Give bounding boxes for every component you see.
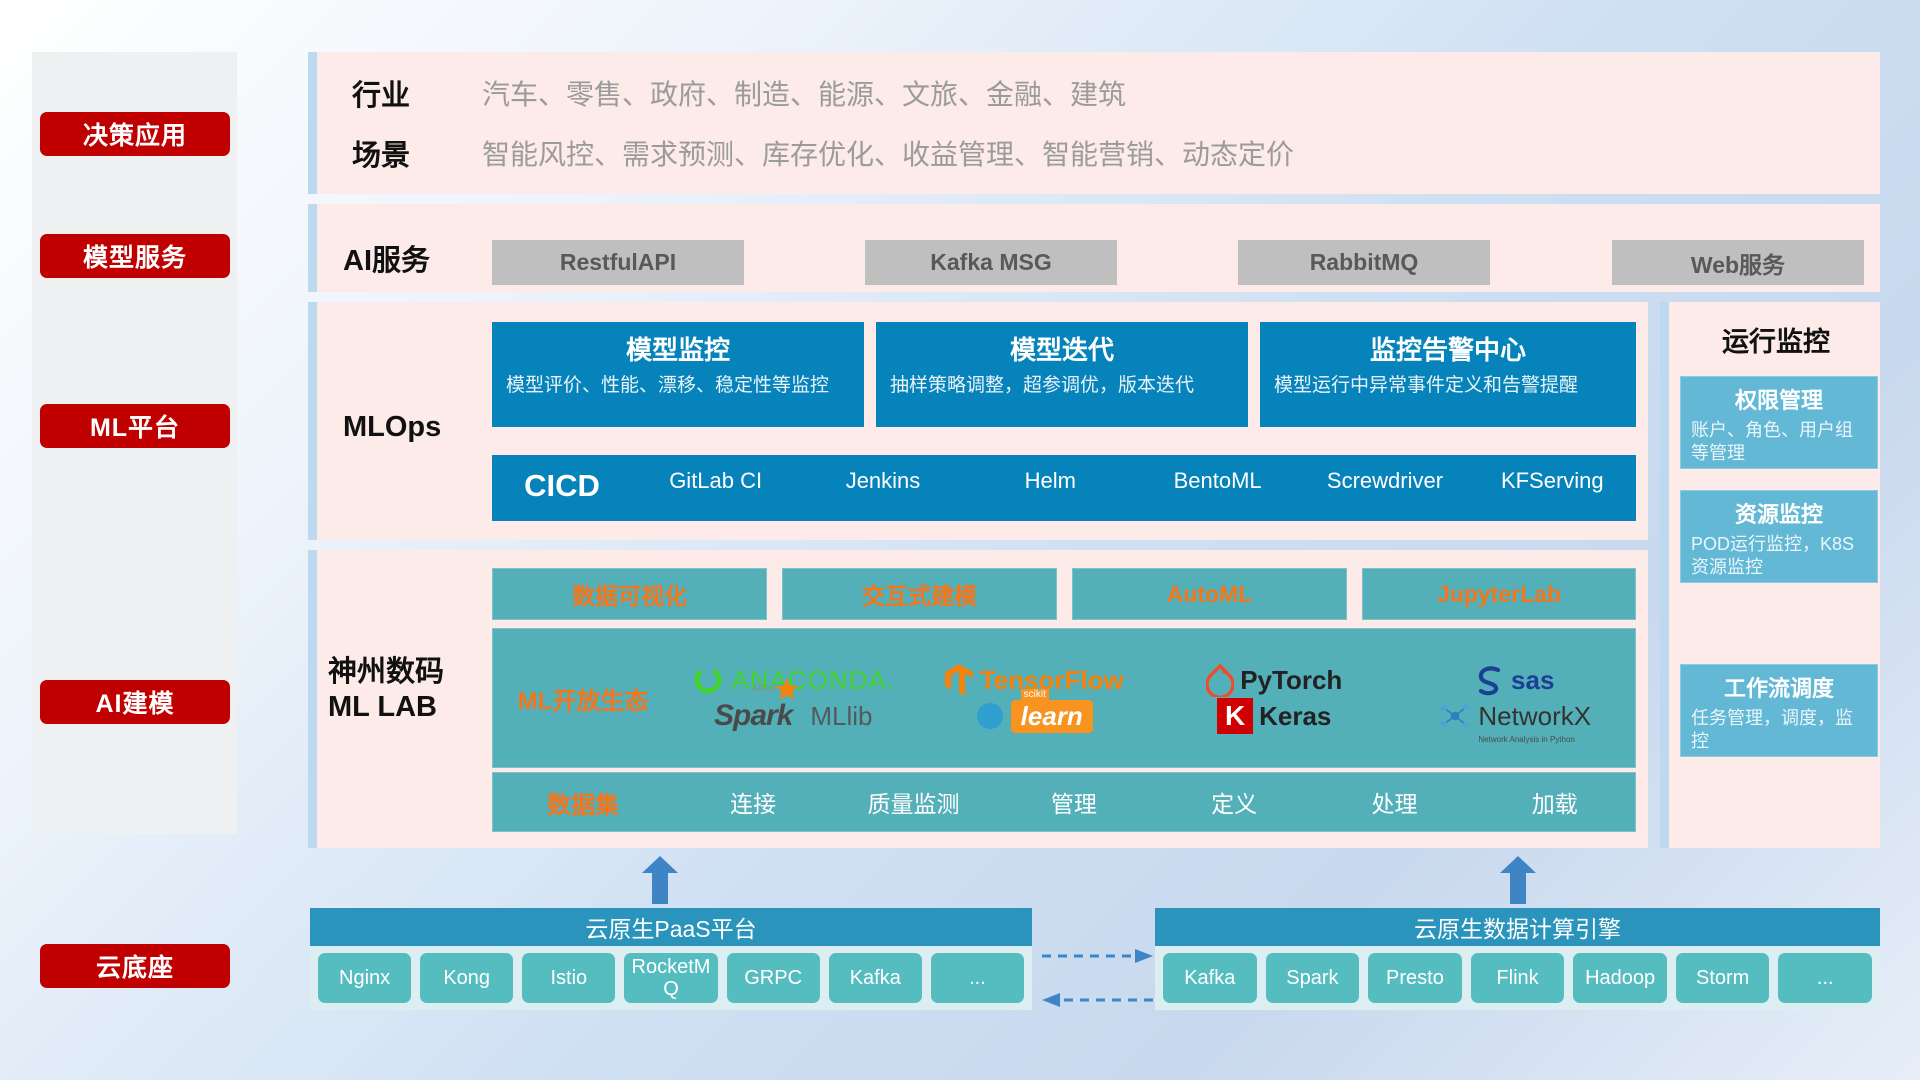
scikit-learn-icon [975,701,1005,731]
data-chip-kafka[interactable]: Kafka [1163,953,1257,1003]
lab-tab-automl[interactable]: AutoML [1072,568,1347,620]
dataset-item-define[interactable]: 定义 [1154,785,1314,819]
dataset-label: 数据集 [493,785,673,820]
mlops-card-title: 模型监控 [506,330,850,367]
dataset-item-process[interactable]: 处理 [1314,785,1474,819]
cicd-item-kfserving[interactable]: KFServing [1469,461,1636,495]
data-chip-spark[interactable]: Spark [1266,953,1360,1003]
scikit-learn-wordmark: scikit learn [1011,700,1093,733]
networkx-tagline: Network Analysis in Python [1478,735,1575,744]
stage-chip-cloud-base[interactable]: 云底座 [40,944,230,988]
scikit-sub-label: scikit [1021,689,1049,700]
ml-ecosystem-logo-grid: ANACONDA. TensorFlow PyTorch [673,662,1635,734]
logo-label: Keras [1259,701,1331,732]
monitor-card-resource[interactable]: 资源监控 POD运行监控，K8S资源监控 [1680,490,1878,583]
logo-label: TensorFlow [980,665,1124,696]
logo-keras: K Keras [1154,698,1395,734]
stage-chip-ai-modeling[interactable]: AI建模 [40,680,230,724]
stage-chip-model-service[interactable]: 模型服务 [40,234,230,278]
stage-chip-ml-platform[interactable]: ML平台 [40,404,230,448]
logo-label: NetworkX [1478,701,1591,731]
paas-platform-title: 云原生PaaS平台 [310,908,1032,946]
arrow-up-paas [640,856,680,898]
industry-value: 汽车、零售、政府、制造、能源、文旅、金融、建筑 [482,73,1126,113]
architecture-diagram: 决策应用 模型服务 ML平台 AI建模 云底座 行业 汽车、零售、政府、制造、能… [0,0,1920,1080]
monitor-card-title: 权限管理 [1691,383,1867,415]
runtime-monitor-title: 运行监控 [1672,320,1880,359]
paas-chip-grpc[interactable]: GRPC [727,953,820,1003]
paas-chip-rocketmq[interactable]: RocketMQ [624,953,717,1003]
service-chip-web-service[interactable]: Web服务 [1612,240,1864,285]
mlops-card-desc: 模型评价、性能、漂移、稳定性等监控 [506,373,850,399]
paas-chip-istio[interactable]: Istio [522,953,615,1003]
spark-star-icon [774,678,800,700]
ml-ecosystem-label: ML开放生态 [493,681,673,716]
cicd-item-gitlab-ci[interactable]: GitLab CI [632,461,799,495]
cicd-item-screwdriver[interactable]: Screwdriver [1301,461,1468,495]
scenario-row: 场景 智能风控、需求预测、库存优化、收益管理、智能营销、动态定价 [352,132,1294,174]
logo-sas: sas [1395,664,1636,696]
logo-label: PyTorch [1240,665,1342,696]
tensorflow-icon [944,663,974,697]
paas-chip-nginx[interactable]: Nginx [318,953,411,1003]
dataset-item-quality[interactable]: 质量监测 [833,785,993,819]
data-chip-flink[interactable]: Flink [1471,953,1565,1003]
monitor-card-desc: 任务管理，调度，监控 [1691,707,1867,754]
monitor-card-permission[interactable]: 权限管理 账户、角色、用户组等管理 [1680,376,1878,469]
anaconda-icon [691,663,725,697]
cicd-item-helm[interactable]: Helm [967,461,1134,495]
lab-tab-jupyterlab[interactable]: JupyterLab [1362,568,1636,620]
stage-chip-decision-app[interactable]: 决策应用 [40,112,230,156]
mlops-card-title: 监控告警中心 [1274,330,1622,367]
lab-tab-interactive-modeling[interactable]: 交互式建模 [782,568,1057,620]
data-chip-storm[interactable]: Storm [1676,953,1770,1003]
mlops-card-desc: 模型运行中异常事件定义和告警提醒 [1274,373,1622,399]
monitor-card-desc: 账户、角色、用户组等管理 [1691,419,1867,466]
data-chip-presto[interactable]: Presto [1368,953,1462,1003]
networkx-icon [1438,700,1472,732]
industry-row: 行业 汽车、零售、政府、制造、能源、文旅、金融、建筑 [352,72,1126,114]
mlops-card-model-monitoring[interactable]: 模型监控 模型评价、性能、漂移、稳定性等监控 [492,322,864,427]
cicd-item-jenkins[interactable]: Jenkins [799,461,966,495]
dataset-item-load[interactable]: 加载 [1475,785,1635,819]
logo-pytorch: PyTorch [1154,663,1395,697]
scenario-value: 智能风控、需求预测、库存优化、收益管理、智能营销、动态定价 [482,133,1294,173]
monitor-card-desc: POD运行监控，K8S资源监控 [1691,533,1867,580]
arrow-up-data-engine [1498,856,1538,898]
ml-lab-label: 神州数码 ML LAB [328,655,444,725]
lab-tab-data-visualization[interactable]: 数据可视化 [492,568,767,620]
mlops-label: MLOps [343,410,441,445]
logo-label: MLlib [810,701,872,732]
monitor-card-title: 工作流调度 [1691,671,1867,703]
dataset-item-connect[interactable]: 连接 [673,785,833,819]
mlops-card-model-iteration[interactable]: 模型迭代 抽样策略调整，超参调优，版本迭代 [876,322,1248,427]
logo-label: sas [1511,665,1554,696]
scenario-label: 场景 [352,132,482,174]
bidirectional-link-arrows [1040,940,1155,1020]
cicd-bar: CICD GitLab CI Jenkins Helm BentoML Scre… [492,455,1636,521]
service-chip-restfulapi[interactable]: RestfulAPI [492,240,744,285]
paas-chip-more[interactable]: ... [931,953,1024,1003]
ml-ecosystem-box: ML开放生态 ANACONDA. TensorFlow [492,628,1636,768]
data-engine-title: 云原生数据计算引擎 [1155,908,1880,946]
cicd-item-bentoml[interactable]: BentoML [1134,461,1301,495]
pytorch-icon [1206,663,1234,697]
spark-icon: APACHE Spark [714,699,792,733]
mlops-card-title: 模型迭代 [890,330,1234,367]
data-engine-chip-list: Kafka Spark Presto Flink Hadoop Storm ..… [1155,946,1880,1010]
industry-label: 行业 [352,72,482,114]
ai-service-label: AI服务 [343,244,430,279]
paas-chip-kafka[interactable]: Kafka [829,953,922,1003]
monitor-card-title: 资源监控 [1691,497,1867,529]
data-chip-more[interactable]: ... [1778,953,1872,1003]
sas-icon [1475,664,1505,696]
keras-icon: K [1217,698,1253,734]
logo-scikit-learn: scikit learn [914,700,1155,733]
paas-chip-list: Nginx Kong Istio RocketMQ GRPC Kafka ... [310,946,1032,1010]
logo-spark-mllib: APACHE Spark MLlib [673,699,914,733]
data-chip-hadoop[interactable]: Hadoop [1573,953,1667,1003]
data-engine-group: 云原生数据计算引擎 Kafka Spark Presto Flink Hadoo… [1155,908,1880,1010]
logo-networkx: NetworkX Network Analysis in Python [1395,700,1636,732]
mlops-card-alert-center[interactable]: 监控告警中心 模型运行中异常事件定义和告警提醒 [1260,322,1636,427]
logo-label: learn [1021,701,1083,731]
cicd-title: CICD [492,461,632,511]
service-chip-rabbitmq[interactable]: RabbitMQ [1238,240,1490,285]
mlops-card-desc: 抽样策略调整，超参调优，版本迭代 [890,373,1234,399]
monitor-card-workflow[interactable]: 工作流调度 任务管理，调度，监控 [1680,664,1878,757]
dataset-row: 数据集 连接 质量监测 管理 定义 处理 加载 [492,772,1636,832]
dataset-item-manage[interactable]: 管理 [994,785,1154,819]
paas-platform-group: 云原生PaaS平台 Nginx Kong Istio RocketMQ GRPC… [310,908,1032,1010]
paas-chip-kong[interactable]: Kong [420,953,513,1003]
service-chip-kafka-msg[interactable]: Kafka MSG [865,240,1117,285]
